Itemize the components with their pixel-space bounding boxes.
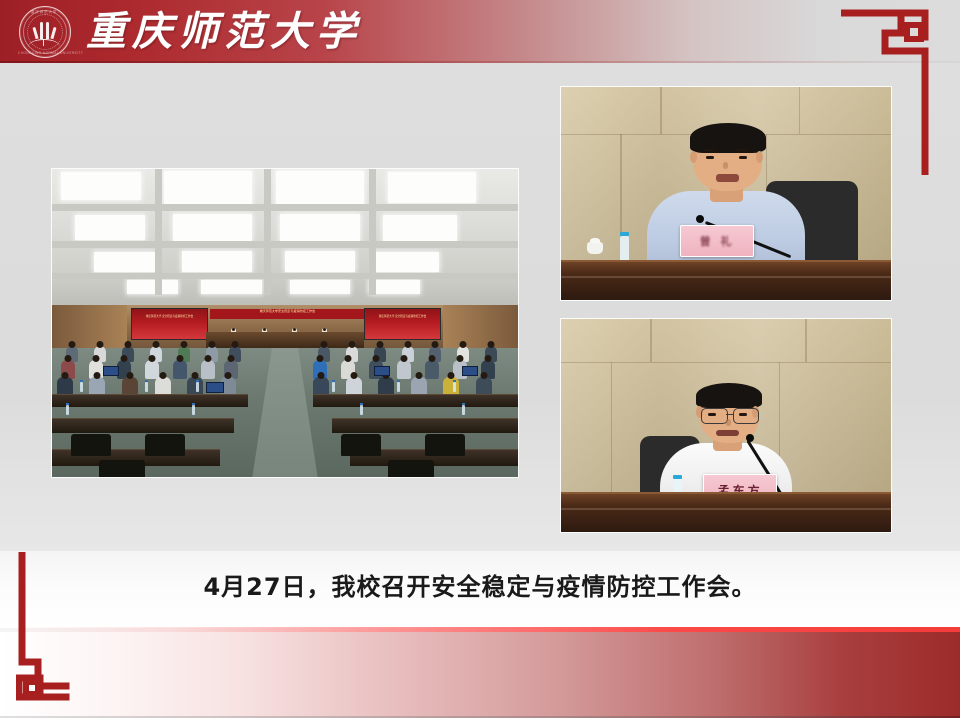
speaker-ear: [756, 151, 763, 163]
conference-hall-scene: 重庆师范大学 安全稳定与疫情防控工作会 重庆师范大学 安全稳定与疫情防控工作会 …: [52, 169, 518, 477]
hall-stage-banner: 重庆师范大学安全稳定与疫情防控工作会: [210, 309, 364, 319]
audience-person: [173, 360, 187, 379]
ceiling-light-panel: [388, 172, 477, 203]
bottom-gradient-band: [0, 632, 960, 718]
speaker-hair: [690, 123, 766, 153]
speaker-nose: [726, 419, 731, 426]
ceiling-beam: [264, 169, 271, 295]
speaker-scene-top: 曾 礼: [561, 87, 891, 300]
ceiling-beam: [155, 169, 162, 295]
tea-cup: [587, 242, 603, 254]
hall-screen-right: 重庆师范大学 安全稳定与疫情防控工作会: [364, 308, 441, 341]
audience-person: [145, 360, 159, 379]
speaker-eye: [739, 156, 747, 159]
speaker-eye: [708, 413, 716, 416]
speaker-photo-meng-dongfang: 孟东方: [561, 319, 891, 532]
water-bottle: [332, 382, 335, 392]
ceiling-beam: [52, 204, 518, 211]
ceiling-beam: [52, 273, 518, 279]
ceiling-beam: [369, 169, 376, 295]
speaker-mouth: [716, 174, 739, 181]
speaker-eyebrow: [736, 149, 747, 152]
conference-hall-photo: 重庆师范大学 安全稳定与疫情防控工作会 重庆师范大学 安全稳定与疫情防控工作会 …: [52, 169, 518, 477]
audience-chair: [425, 434, 465, 456]
speaker-eyebrow: [703, 149, 714, 152]
water-bottle: [462, 405, 465, 415]
laptop: [374, 366, 390, 376]
conference-table: [561, 260, 891, 300]
audience-desk: [313, 394, 518, 407]
speaker-scene-bottom: 孟东方: [561, 319, 891, 532]
audience-chair: [341, 434, 381, 456]
laptop: [103, 366, 119, 376]
hall-stage-banner-text: 重庆师范大学安全稳定与疫情防控工作会: [210, 309, 364, 313]
ceiling-light-panel: [201, 280, 262, 294]
speaker-nameplate-top-text: 曾 礼: [700, 233, 735, 249]
speaker-eye: [706, 156, 714, 159]
slide-caption: 4月27日，我校召开安全稳定与疫情防控工作会。: [0, 567, 960, 602]
speaker-ear: [690, 151, 697, 163]
hall-screen-left: 重庆师范大学 安全稳定与疫情防控工作会: [131, 308, 208, 341]
audience-desk: [332, 418, 518, 433]
speaker-hair: [696, 383, 762, 409]
audience-chair: [388, 460, 434, 477]
corner-ornament-bottom-left: [16, 552, 120, 702]
ceiling-light-panel: [290, 280, 351, 294]
slide-header: 重庆师范大学 CHONGQING NORMAL UNIVERSITY 重庆师范大…: [0, 0, 960, 63]
wall-seam: [650, 319, 652, 362]
water-bottle: [196, 382, 199, 392]
conference-table: [561, 492, 891, 532]
presentation-slide: 重庆师范大学 CHONGQING NORMAL UNIVERSITY 重庆师范大…: [0, 0, 960, 720]
ceiling-light-panel: [276, 171, 365, 205]
ceiling-light-panel: [285, 251, 355, 273]
wall-seam: [611, 362, 613, 494]
ceiling-beam: [52, 241, 518, 247]
hall-screen-right-text: 重庆师范大学 安全稳定与疫情防控工作会: [368, 315, 437, 319]
water-bottle: [192, 405, 195, 415]
ceiling-light-panel: [164, 171, 253, 205]
eyeglasses-bridge: [726, 414, 733, 416]
audience-chair: [145, 434, 185, 456]
audience-desk: [52, 394, 248, 407]
speaker-nameplate-top: 曾 礼: [680, 225, 755, 257]
hall-screen-left-text: 重庆师范大学 安全稳定与疫情防控工作会: [135, 315, 204, 319]
laptop: [462, 366, 478, 376]
ceiling-light-panel: [280, 214, 359, 242]
ceiling-light-panel: [369, 280, 420, 294]
water-bottle: [145, 382, 148, 392]
ceiling-light-panel: [374, 252, 439, 272]
hall-stage-table: [206, 332, 364, 347]
speaker-eye: [739, 413, 747, 416]
ceiling-light-panel: [173, 214, 252, 242]
ceiling-light-panel: [182, 251, 252, 273]
ceiling-light-panel: [127, 280, 178, 294]
audience-chair: [71, 434, 111, 456]
water-bottle: [397, 382, 400, 392]
laptop: [206, 382, 224, 393]
wall-seam: [805, 319, 807, 362]
wall-seam: [799, 87, 801, 134]
audience-desk: [52, 418, 234, 433]
speaker-nose: [723, 162, 728, 169]
audience-person: [397, 360, 411, 379]
ceiling-light-panel: [61, 172, 140, 200]
emblem-ring-bottom-text: CHONGQING NORMAL UNIVERSITY: [18, 51, 70, 55]
water-bottle: [360, 405, 363, 415]
speaker-photo-zeng-li: 曾 礼: [561, 87, 891, 300]
water-bottle: [80, 382, 83, 392]
audience-chair: [99, 460, 145, 477]
ceiling-light-panel: [94, 252, 155, 272]
ceiling-light-panel: [75, 215, 145, 240]
university-name-title: 重庆师范大学: [86, 3, 362, 60]
eyeglasses-right-lens: [733, 408, 760, 424]
speaker-mouth: [716, 430, 739, 436]
eyeglasses-left-lens: [701, 408, 728, 424]
audience-person: [201, 360, 215, 379]
university-emblem-icon: 重庆师范大学 CHONGQING NORMAL UNIVERSITY: [18, 6, 72, 58]
emblem-ring-top-text: 重庆师范大学: [18, 10, 70, 15]
audience-person: [425, 360, 439, 379]
ceiling-light-panel: [383, 215, 458, 241]
water-bottle: [66, 405, 69, 415]
wall-seam: [660, 87, 662, 134]
water-bottle: [453, 382, 456, 392]
emblem-flame-mark: [33, 19, 55, 39]
